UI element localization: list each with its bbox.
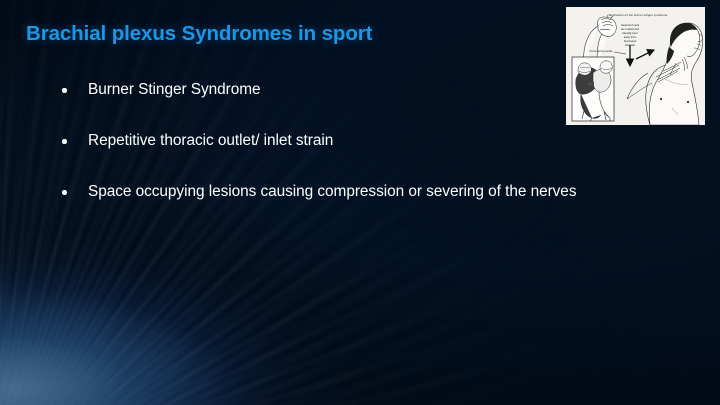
slide-content: Brachial plexus Syndromes in sport Burne… xyxy=(0,0,720,405)
bullet-point-icon xyxy=(62,131,88,144)
svg-text:away from: away from xyxy=(624,35,637,39)
list-item: Space occupying lesions causing compress… xyxy=(62,182,716,204)
figure-caption: Mechanism of the burner stinger syndrome xyxy=(609,13,668,17)
svg-text:are rotated and: are rotated and xyxy=(621,27,640,31)
football-tackle-inset xyxy=(572,57,614,121)
slide: Brachial plexus Syndromes in sport Burne… xyxy=(0,0,720,405)
svg-text:laterally bent: laterally bent xyxy=(622,31,637,35)
illustration-graphic: Mechanism of the burner stinger syndrome xyxy=(566,7,705,125)
list-item-label: Repetitive thoracic outlet/ inlet strain xyxy=(88,131,716,151)
list-item: Repetitive thoracic outlet/ inlet strain xyxy=(62,131,716,153)
bullet-point-icon xyxy=(62,80,88,93)
svg-text:depressed: depressed xyxy=(624,39,637,43)
list-item-label: Space occupying lesions causing compress… xyxy=(88,182,716,202)
burner-stinger-mechanism-image: Mechanism of the burner stinger syndrome xyxy=(566,7,705,125)
svg-text:Force during tackle: Force during tackle xyxy=(590,49,613,53)
page-title: Brachial plexus Syndromes in sport xyxy=(26,22,546,46)
bullet-point-icon xyxy=(62,182,88,195)
svg-text:Head and neck: Head and neck xyxy=(621,23,640,27)
svg-text:shoulder: shoulder xyxy=(625,43,635,47)
